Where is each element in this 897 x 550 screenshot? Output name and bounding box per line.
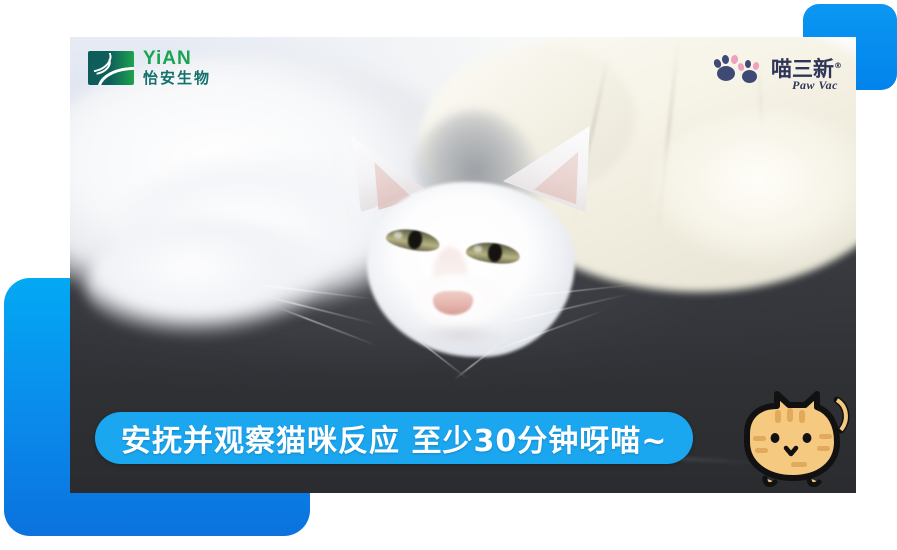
yian-logo-en: YiAN	[143, 49, 211, 68]
registered-mark-icon: ®	[834, 61, 842, 70]
orange-tabby-cat-mascot-icon	[731, 386, 859, 490]
yian-logo-mark-icon	[88, 51, 134, 85]
paw-toe	[730, 55, 738, 65]
paw-toe	[752, 61, 760, 70]
paw-prints-icon	[714, 53, 766, 85]
brand-logo-yian: YiAN 怡安生物	[88, 49, 211, 86]
screenshot-stage: YiAN 怡安生物 喵三新® Paw Vac 安抚并观察猫咪反应	[0, 0, 897, 550]
paw-toe	[721, 55, 729, 65]
brand-logo-pawvac: 喵三新® Paw Vac	[714, 53, 842, 85]
cat-pupil	[406, 230, 423, 251]
caption-text: 安抚并观察猫咪反应 至少30分钟呀喵~	[121, 416, 667, 460]
yian-logo-text: YiAN 怡安生物	[143, 49, 211, 86]
paw-toe	[737, 62, 745, 71]
cat-eye-highlight	[473, 245, 484, 254]
caption-bubble: 安抚并观察猫咪反应 至少30分钟呀喵~	[95, 412, 693, 464]
pawvac-name-cn-text: 喵三新	[771, 57, 834, 81]
pawvac-name-cn: 喵三新® Paw Vac	[771, 59, 842, 80]
paw-pad-main	[742, 70, 757, 83]
yian-logo-cn: 怡安生物	[143, 71, 211, 86]
cat-eye-highlight	[392, 230, 403, 239]
cat-pupil	[487, 243, 503, 263]
paw-pad-main	[717, 66, 735, 81]
paw-toe	[745, 60, 751, 68]
pawvac-name-en: Paw Vac	[792, 79, 838, 91]
kitten-head	[353, 156, 589, 375]
cat-chin-shadow	[414, 322, 508, 348]
